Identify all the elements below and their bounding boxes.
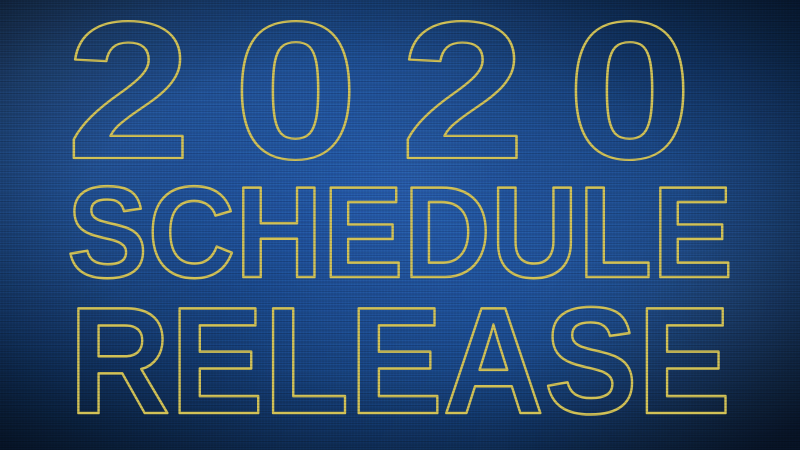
background-vignette	[0, 0, 800, 450]
title-card-canvas: 2020 SCHEDULE RELEASE	[0, 0, 800, 450]
